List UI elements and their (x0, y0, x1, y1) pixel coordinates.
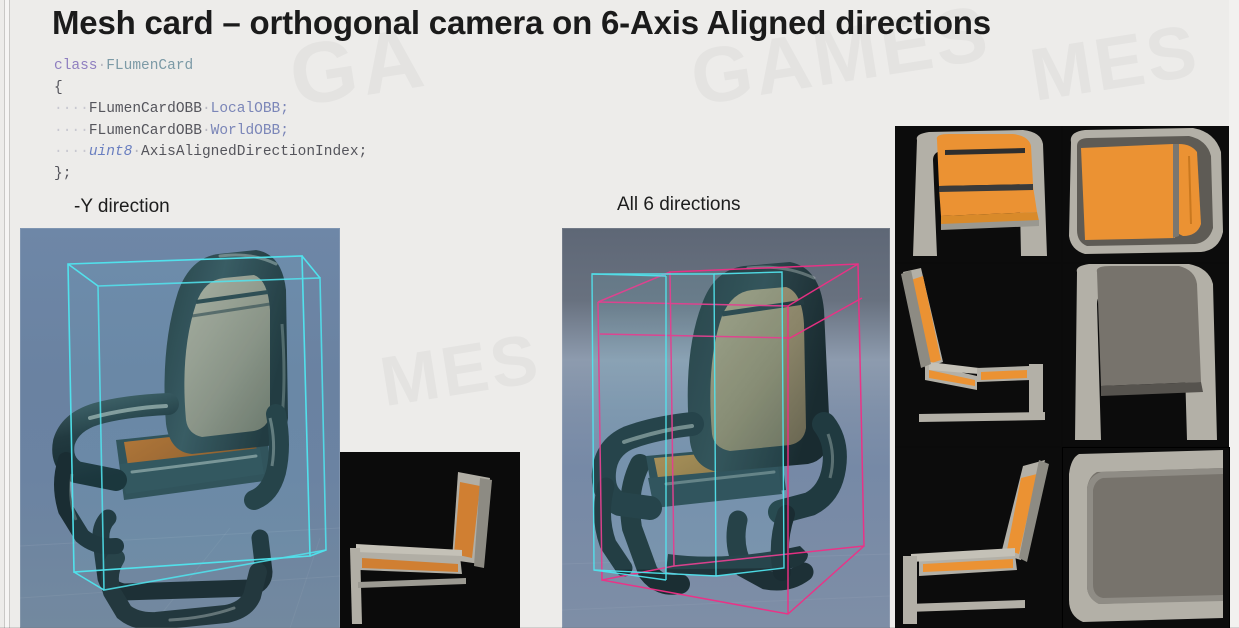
card-side-right-render (895, 448, 1061, 628)
card-back-render (1063, 264, 1229, 446)
card-side-l (895, 264, 1061, 446)
watermark-blob-3: MES (1024, 7, 1205, 117)
card-side-left-render (895, 264, 1061, 446)
card-front (895, 126, 1061, 262)
viewport-all-directions[interactable] (562, 228, 890, 628)
page-gutter-line-inner (9, 0, 10, 628)
code-block: class·FLumenCard { ····FLumenCardOBB·Loc… (54, 56, 367, 186)
page-gutter-line-outer (4, 0, 5, 628)
card-side-r (895, 448, 1061, 628)
bounding-box-cyan-fill (68, 256, 310, 572)
slide-title: Mesh card – orthogonal camera on 6-Axis … (52, 4, 991, 42)
card-render-grid (895, 126, 1229, 628)
chair-render-right (562, 228, 890, 628)
card-bottom (1063, 448, 1229, 628)
chair-render-left (20, 228, 340, 628)
slide-root: GA GAMES MES MES Mesh card – orthogonal … (0, 0, 1239, 628)
card-side-preview-render (340, 452, 520, 628)
slide-right-margin (1229, 0, 1239, 628)
card-bottom-render (1063, 448, 1229, 628)
caption-right-viewport: All 6 directions (617, 194, 741, 216)
bounding-box-cyan-fill-right (592, 272, 784, 570)
card-top (1063, 126, 1229, 262)
card-top-render (1063, 126, 1229, 262)
viewport-single-direction[interactable] (20, 228, 340, 628)
card-front-render (895, 126, 1061, 262)
card-back (1063, 264, 1229, 446)
watermark-blob-4: MES (375, 318, 546, 422)
card-side-preview (340, 452, 520, 628)
caption-left-viewport: -Y direction (74, 196, 170, 218)
